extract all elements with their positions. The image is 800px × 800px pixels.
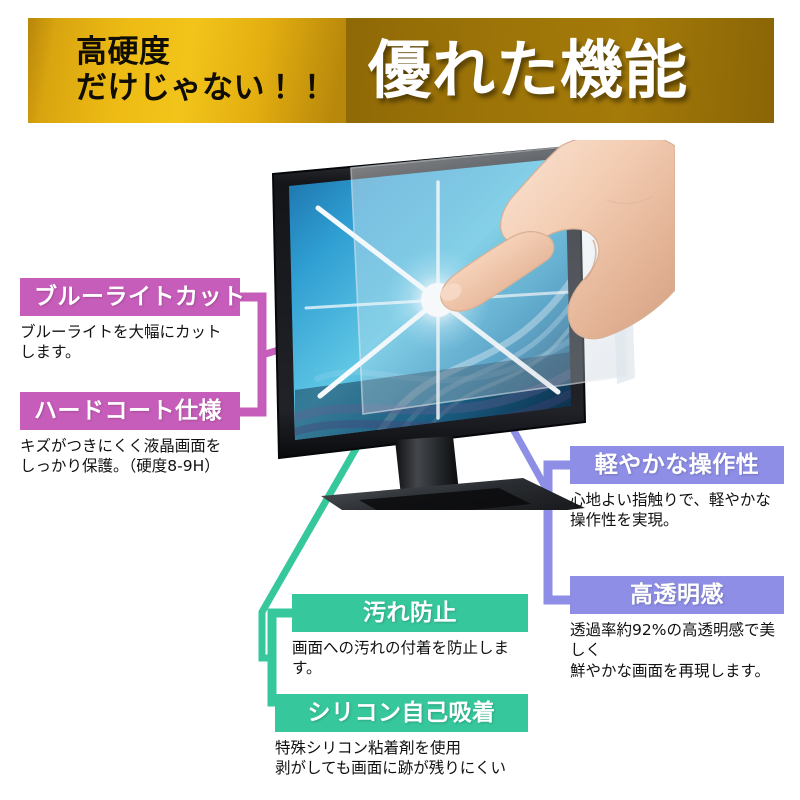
callout-light-operation[interactable]: 軽やかな操作性 心地よい指触りで、軽やかな 操作性を実現。 (570, 446, 784, 531)
callout-silicone-adhesion[interactable]: シリコン自己吸着 特殊シリコン粘着剤を使用 剥がしても画面に跡が残りにくい (275, 694, 528, 779)
callout-high-clarity-body: 透過率約92%の高透明感で美しく 鮮やかな画面を再現します。 (570, 620, 784, 681)
callout-stain-prevention-title: 汚れ防止 (292, 594, 528, 632)
callout-silicone-adhesion-title: シリコン自己吸着 (275, 694, 528, 732)
callout-blue-light-cut[interactable]: ブルーライトカット ブルーライトを大幅にカット します。 (20, 278, 240, 363)
banner-left-line2: だけじゃない！！ (76, 71, 346, 106)
callout-hard-coat-body: キズがつきにくく液晶画面を しっかり保護。（硬度8-9H） (20, 436, 240, 477)
callout-light-operation-body: 心地よい指触りで、軽やかな 操作性を実現。 (570, 490, 784, 531)
callout-stain-prevention-body: 画面への汚れの付着を防止しま す。 (292, 638, 528, 679)
banner-title: 優れた機能 (368, 39, 688, 102)
callout-high-clarity-title: 高透明感 (570, 576, 784, 614)
banner-right-panel: 優れた機能 (346, 18, 774, 123)
callout-silicone-adhesion-body: 特殊シリコン粘着剤を使用 剥がしても画面に跡が残りにくい (275, 738, 528, 779)
callout-stain-prevention[interactable]: 汚れ防止 画面への汚れの付着を防止しま す。 (292, 594, 528, 679)
callout-hard-coat[interactable]: ハードコート仕様 キズがつきにくく液晶画面を しっかり保護。（硬度8-9H） (20, 392, 240, 477)
callout-hard-coat-title: ハードコート仕様 (20, 392, 240, 430)
callout-blue-light-cut-body: ブルーライトを大幅にカット します。 (20, 322, 240, 363)
banner-left-panel: 高硬度 だけじゃない！！ (28, 18, 346, 123)
advertisement-canvas: 高硬度 だけじゃない！！ 優れた機能 (0, 0, 800, 800)
callout-blue-light-cut-title: ブルーライトカット (20, 278, 240, 316)
header-banner: 高硬度 だけじゃない！！ 優れた機能 (28, 18, 774, 123)
callout-light-operation-title: 軽やかな操作性 (570, 446, 784, 484)
banner-left-line1: 高硬度 (76, 35, 346, 70)
callout-high-clarity[interactable]: 高透明感 透過率約92%の高透明感で美しく 鮮やかな画面を再現します。 (570, 576, 784, 681)
